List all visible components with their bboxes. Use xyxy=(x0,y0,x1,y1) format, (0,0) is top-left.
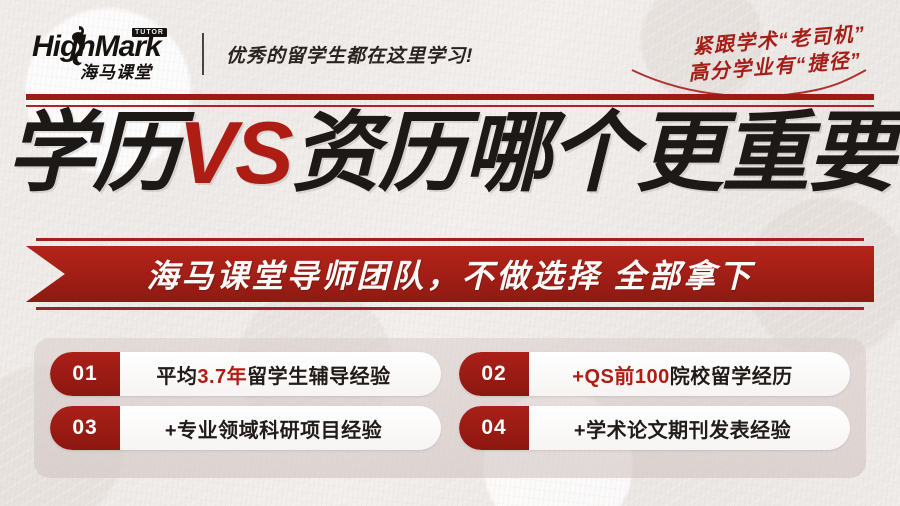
feature-text-post: 留学生辅导经验 xyxy=(247,366,391,388)
header-divider xyxy=(202,33,204,75)
brand-tagline: 优秀的留学生都在这里学习! xyxy=(226,41,473,68)
feature-text: +专业领域科研项目经验 xyxy=(120,414,441,443)
list-item: 04 +学术论文期刊发表经验 xyxy=(459,406,850,450)
brand-header: HighMark TUTOR 海马课堂 优秀的留学生都在这里学习! xyxy=(32,28,473,80)
feature-list: 01 平均3.7年留学生辅导经验 02 +QS前100院校留学经历 03 +专业… xyxy=(50,352,850,450)
page-title: 学历VS资历哪个更重要 xyxy=(0,108,900,198)
list-item: 02 +QS前100院校留学经历 xyxy=(459,352,850,396)
feature-text-post: 院校留学经历 xyxy=(670,366,793,388)
ribbon-text: 海马课堂导师团队，不做选择 全部拿下 xyxy=(0,238,900,310)
headline-part-1: 学历 xyxy=(6,103,178,202)
feature-text-pre: +学术论文期刊发表经验 xyxy=(574,420,791,442)
feature-number-badge: 03 xyxy=(50,406,120,450)
logo-tutor-tag: TUTOR xyxy=(132,28,167,37)
list-item: 03 +专业领域科研项目经验 xyxy=(50,406,441,450)
feature-text: +QS前100院校留学经历 xyxy=(529,360,850,389)
headline-vs: VS xyxy=(178,103,291,202)
promo-banner: HighMark TUTOR 海马课堂 优秀的留学生都在这里学习! 紧跟学术“老… xyxy=(0,0,900,506)
feature-text-pre: +专业领域科研项目经验 xyxy=(165,420,382,442)
feature-number-badge: 04 xyxy=(459,406,529,450)
feature-text-pre: 平均 xyxy=(156,366,197,388)
logo-chinese-name: 海马课堂 xyxy=(80,58,152,83)
ribbon-banner: 海马课堂导师团队，不做选择 全部拿下 xyxy=(0,238,900,310)
feature-text-highlight: +QS前100 xyxy=(572,366,669,388)
feature-text: 平均3.7年留学生辅导经验 xyxy=(120,360,441,389)
logo: HighMark TUTOR 海马课堂 xyxy=(32,28,172,80)
list-item: 01 平均3.7年留学生辅导经验 xyxy=(50,352,441,396)
feature-text: +学术论文期刊发表经验 xyxy=(529,414,850,443)
feature-number-badge: 02 xyxy=(459,352,529,396)
feature-number-badge: 01 xyxy=(50,352,120,396)
headline-rule-thick xyxy=(26,94,874,100)
feature-text-highlight: 3.7年 xyxy=(197,366,247,388)
headline-part-2: 资历哪个更重要 xyxy=(292,103,894,202)
